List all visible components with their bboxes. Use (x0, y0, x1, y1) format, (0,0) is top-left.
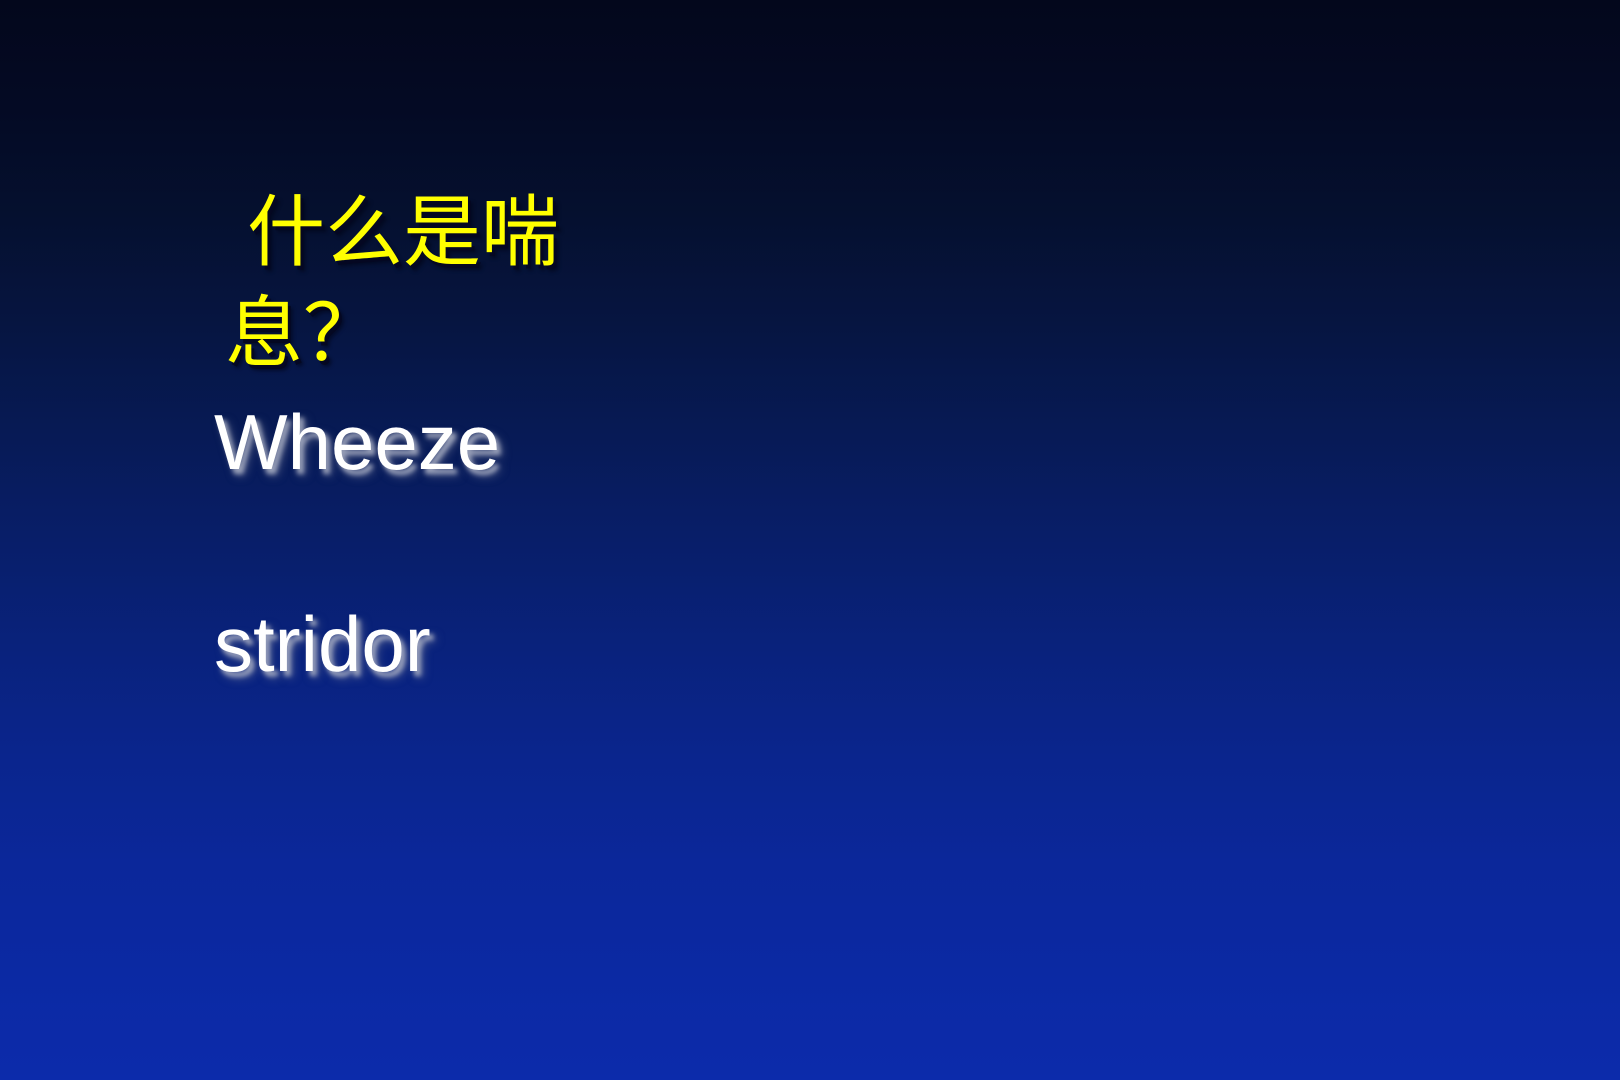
slide-title: 什么是喘 息？ (225, 182, 585, 385)
body-line-blank (214, 493, 1114, 594)
slide-body: Wheeze stridor (214, 392, 1114, 696)
slide-title-line-1: 什么是喘 (225, 182, 585, 283)
body-line-wheeze: Wheeze (214, 392, 1114, 493)
body-line-stridor: stridor (214, 594, 1114, 695)
slide-title-line-2: 息？ (225, 283, 585, 384)
slide-canvas: 什么是喘 息？ Wheeze stridor (0, 0, 1620, 1080)
